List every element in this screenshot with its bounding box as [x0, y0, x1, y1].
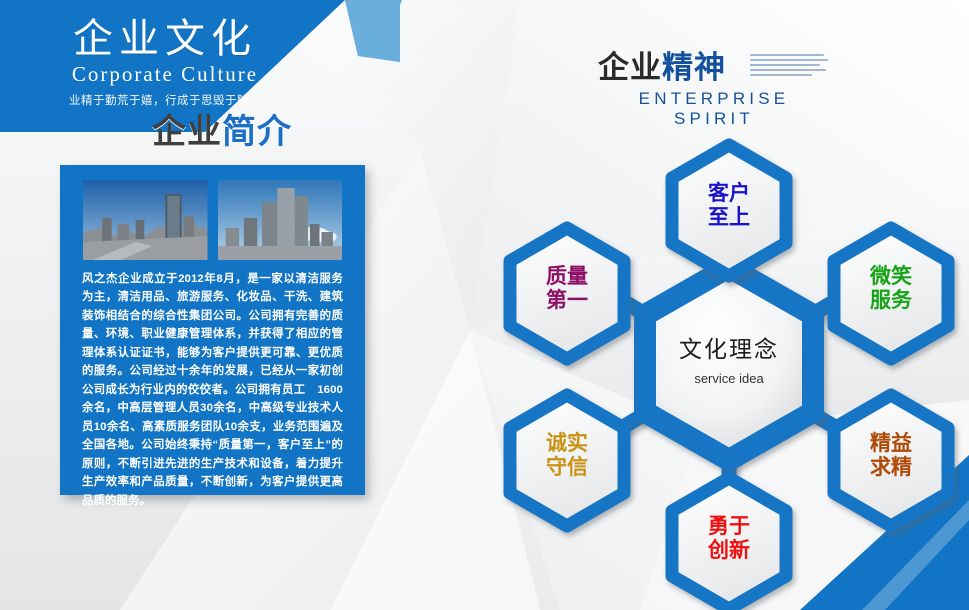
- hex-integrity: [510, 395, 624, 526]
- company-intro-text: 风之杰企业成立于2012年8月，是一家以清洁服务为主，清洁用品、旅游服务、化妆品…: [60, 260, 365, 510]
- hex-innovation: [672, 478, 786, 609]
- photo-row: [60, 165, 365, 260]
- hex-customer-first: [672, 145, 786, 276]
- accent-triangle: [340, 0, 410, 70]
- hex-center: [645, 267, 813, 460]
- hex-quality-first: [510, 228, 624, 359]
- company-intro-card: 风之杰企业成立于2012年8月，是一家以清洁服务为主，清洁用品、旅游服务、化妆品…: [60, 165, 365, 495]
- banner-title-en: Corporate Culture: [0, 62, 330, 87]
- spirit-title-blue: 精神: [662, 50, 726, 85]
- decorative-microtext: [750, 54, 828, 84]
- banner-text-block: 企业文化 Corporate Culture 业精于勤荒于嬉，行成于思毁于随。: [0, 0, 330, 108]
- hex-excellence: [834, 395, 948, 526]
- hex-smile-service: [834, 228, 948, 359]
- city-towers-photo: [218, 180, 343, 260]
- spirit-title-dark: 企业: [598, 50, 662, 85]
- page-title-intro: 企业简介: [152, 112, 292, 153]
- spirit-title-row: 企业精神: [598, 52, 828, 85]
- banner-title-cn: 企业文化: [0, 0, 330, 60]
- intro-title-blue: 简介: [222, 113, 292, 151]
- culture-hexagon-diagram: 文化理念 service idea 客户至上 微笑服务 精益求精 勇于创新 诚实…: [490, 118, 969, 610]
- intro-title-dark: 企业: [152, 113, 222, 151]
- banner-subtitle: 业精于勤荒于嬉，行成于思毁于随。: [0, 92, 330, 108]
- city-skyline-photo: [83, 180, 208, 260]
- poster-canvas: 企业文化 Corporate Culture 业精于勤荒于嬉，行成于思毁于随。 …: [0, 0, 969, 610]
